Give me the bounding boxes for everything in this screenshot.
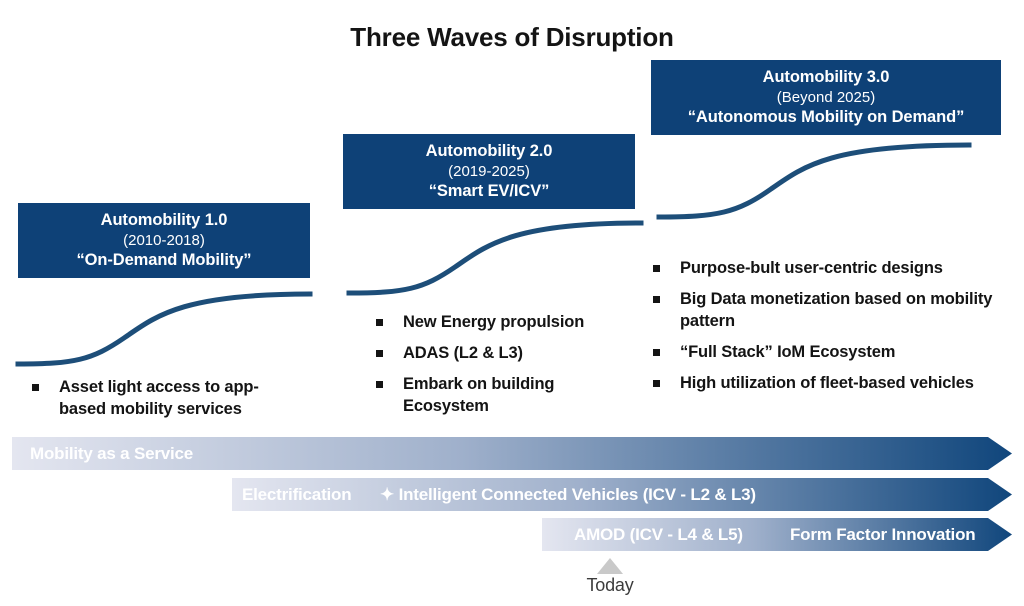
list-item: ADAS (L2 & L3) bbox=[376, 343, 626, 365]
list-item-label: High utilization of fleet-based vehicles bbox=[680, 373, 974, 395]
list-item: “Full Stack” IoM Ecosystem bbox=[653, 342, 1005, 364]
today-label: Today bbox=[540, 575, 680, 596]
list-item-label: ADAS (L2 & L3) bbox=[403, 343, 523, 365]
s-curve-wave-3 bbox=[655, 137, 973, 225]
list-item-label: Purpose-bult user-centric designs bbox=[680, 258, 943, 280]
band-label: Electrification bbox=[242, 485, 351, 505]
list-item-label: New Energy propulsion bbox=[403, 312, 584, 334]
timeline-band-mobility-as-a-service: Mobility as a Service bbox=[12, 437, 1012, 470]
square-bullet-icon bbox=[376, 350, 383, 357]
list-item: Embark on building Ecosystem bbox=[376, 374, 626, 418]
phase-years: (2010-2018) bbox=[18, 231, 310, 250]
band-label: AMOD (ICV - L4 & L5) bbox=[574, 525, 743, 545]
bullet-list-wave-3: Purpose-bult user-centric designs Big Da… bbox=[653, 258, 1005, 404]
timeline-band-electrification: Electrification ✦ Intelligent Connected … bbox=[232, 478, 1012, 511]
phase-box-automobility-1: Automobility 1.0 (2010-2018) “On-Demand … bbox=[18, 203, 310, 278]
list-item: High utilization of fleet-based vehicles bbox=[653, 373, 1005, 395]
square-bullet-icon bbox=[32, 384, 39, 391]
phase-title: Automobility 1.0 bbox=[18, 210, 310, 231]
phase-tagline: “Smart EV/ICV” bbox=[343, 181, 635, 202]
list-item: New Energy propulsion bbox=[376, 312, 626, 334]
page-title: Three Waves of Disruption bbox=[0, 22, 1024, 53]
bullet-list-wave-2: New Energy propulsion ADAS (L2 & L3) Emb… bbox=[376, 312, 626, 427]
phase-title: Automobility 2.0 bbox=[343, 141, 635, 162]
triangle-up-icon bbox=[597, 558, 623, 574]
list-item: Asset light access to app-based mobility… bbox=[32, 377, 300, 421]
phase-box-automobility-2: Automobility 2.0 (2019-2025) “Smart EV/I… bbox=[343, 134, 635, 209]
list-item-label: Embark on building Ecosystem bbox=[403, 374, 626, 418]
phase-title: Automobility 3.0 bbox=[651, 67, 1001, 88]
list-item-label: Asset light access to app-based mobility… bbox=[59, 377, 300, 421]
phase-years: (Beyond 2025) bbox=[651, 88, 1001, 107]
band-label: ✦ Intelligent Connected Vehicles (ICV - … bbox=[380, 485, 756, 505]
phase-years: (2019-2025) bbox=[343, 162, 635, 181]
square-bullet-icon bbox=[653, 265, 660, 272]
list-item: Big Data monetization based on mobility … bbox=[653, 289, 1005, 333]
square-bullet-icon bbox=[376, 381, 383, 388]
phase-tagline: “On-Demand Mobility” bbox=[18, 250, 310, 271]
today-marker: Today bbox=[540, 558, 680, 596]
band-label: Form Factor Innovation bbox=[790, 525, 975, 545]
s-curve-wave-1 bbox=[14, 286, 314, 371]
bullet-list-wave-1: Asset light access to app-based mobility… bbox=[32, 377, 300, 430]
square-bullet-icon bbox=[376, 319, 383, 326]
s-curve-wave-2 bbox=[345, 215, 645, 300]
band-label: Mobility as a Service bbox=[30, 444, 193, 464]
slide-canvas: Three Waves of Disruption Automobility 1… bbox=[0, 0, 1024, 606]
list-item: Purpose-bult user-centric designs bbox=[653, 258, 1005, 280]
timeline-band-amod: AMOD (ICV - L4 & L5) Form Factor Innovat… bbox=[542, 518, 1012, 551]
square-bullet-icon bbox=[653, 349, 660, 356]
square-bullet-icon bbox=[653, 380, 660, 387]
list-item-label: “Full Stack” IoM Ecosystem bbox=[680, 342, 895, 364]
list-item-label: Big Data monetization based on mobility … bbox=[680, 289, 1005, 333]
phase-box-automobility-3: Automobility 3.0 (Beyond 2025) “Autonomo… bbox=[651, 60, 1001, 135]
square-bullet-icon bbox=[653, 296, 660, 303]
phase-tagline: “Autonomous Mobility on Demand” bbox=[651, 107, 1001, 128]
